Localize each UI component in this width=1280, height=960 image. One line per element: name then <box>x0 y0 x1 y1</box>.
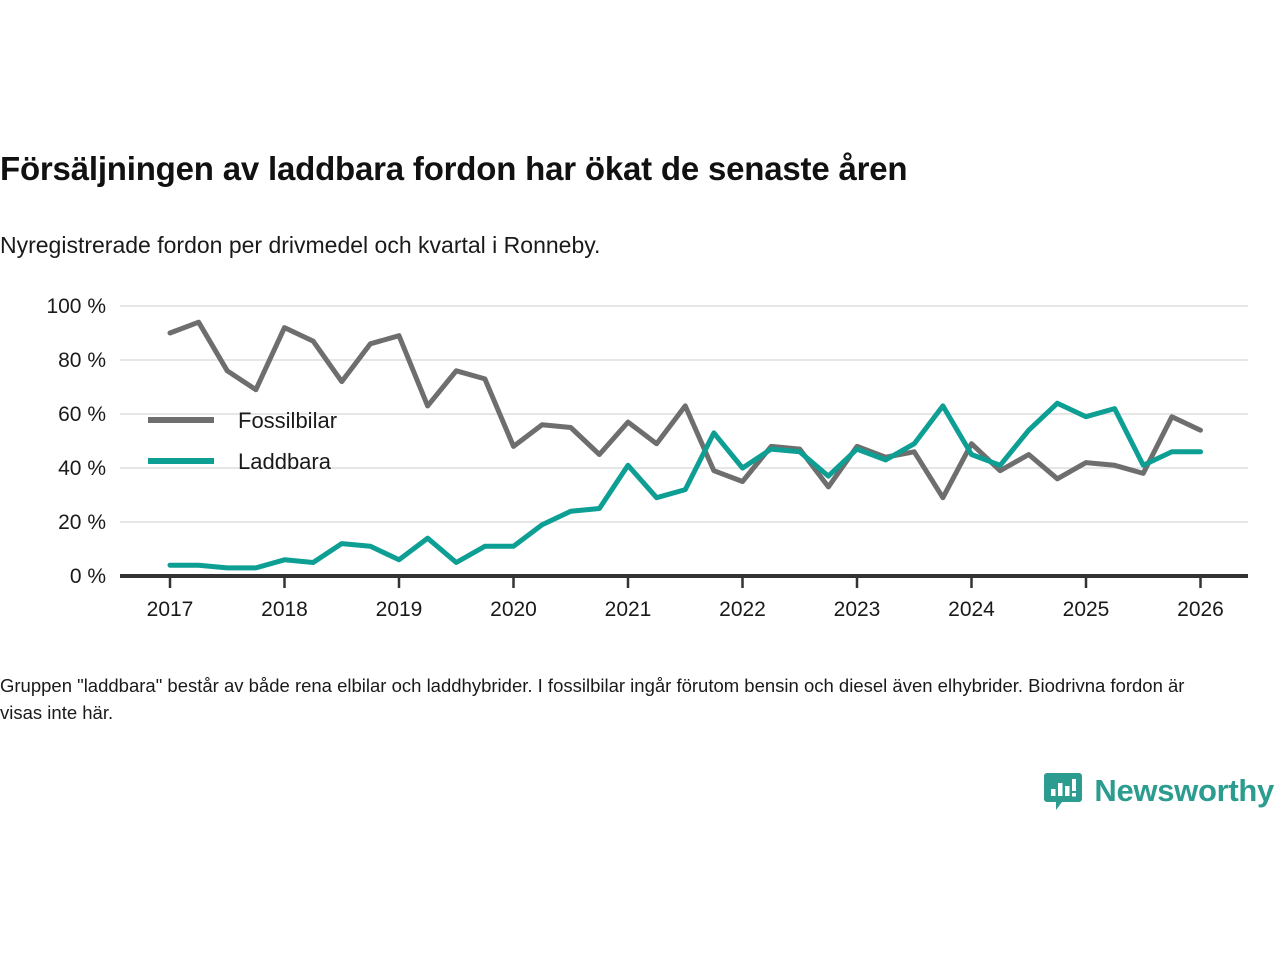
x-axis-tick-label: 2022 <box>719 598 766 621</box>
x-axis-tick-label: 2018 <box>261 598 308 621</box>
x-axis-tick-label: 2020 <box>490 598 537 621</box>
x-axis-tick-label: 2019 <box>376 598 423 621</box>
x-axis-tick-label: 2021 <box>605 598 652 621</box>
brand-name: Newsworthy <box>1094 773 1274 809</box>
x-axis-ticks: 2017201820192020202120222023202420252026 <box>147 576 1224 621</box>
y-axis-tick-label: 0 % <box>70 565 106 588</box>
y-axis-tick-label: 100 % <box>46 295 106 318</box>
bar-chart-speech-bubble-icon <box>1042 770 1084 812</box>
footnote: Gruppen "laddbara" består av både rena e… <box>0 672 1215 726</box>
line-chart: 0 %20 %40 %60 %80 %100 % 201720182019202… <box>0 285 1280 630</box>
legend-label: Fossilbilar <box>238 408 337 433</box>
x-axis-tick-label: 2026 <box>1177 598 1224 621</box>
y-axis-tick-label: 40 % <box>58 457 106 480</box>
y-axis-tick-label: 80 % <box>58 349 106 372</box>
y-axis-tick-label: 20 % <box>58 511 106 534</box>
chart-page: Försäljningen av laddbara fordon har öka… <box>0 0 1280 960</box>
chart-container: 0 %20 %40 %60 %80 %100 % 201720182019202… <box>0 285 1280 630</box>
page-title: Försäljningen av laddbara fordon har öka… <box>0 150 907 188</box>
newsworthy-logo: Newsworthy <box>1042 770 1274 812</box>
x-axis-tick-label: 2023 <box>834 598 881 621</box>
y-axis-tick-label: 60 % <box>58 403 106 426</box>
y-axis-ticks: 0 %20 %40 %60 %80 %100 % <box>46 295 106 588</box>
legend-label: Laddbara <box>238 449 332 474</box>
chart-legend: FossilbilarLaddbara <box>148 408 337 474</box>
x-axis-tick-label: 2024 <box>948 598 995 621</box>
page-subtitle: Nyregistrerade fordon per drivmedel och … <box>0 232 600 259</box>
x-axis-tick-label: 2025 <box>1063 598 1110 621</box>
x-axis-tick-label: 2017 <box>147 598 194 621</box>
